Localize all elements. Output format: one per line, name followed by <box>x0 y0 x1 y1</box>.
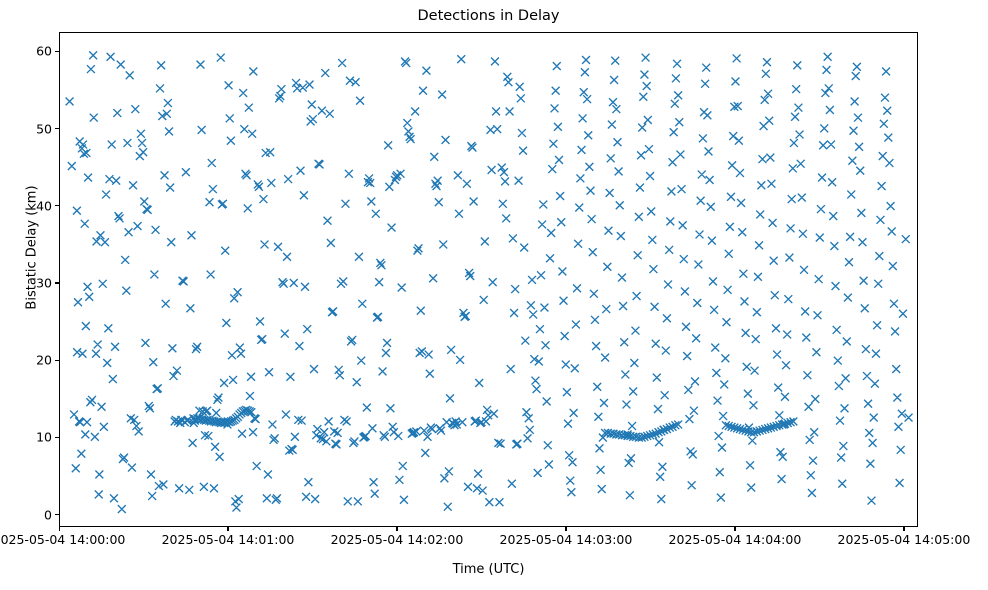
x-tick-mark <box>565 527 566 531</box>
matplotlib-figure: Detections in Delay 0102030405060 2025-0… <box>0 0 988 590</box>
y-tick-mark <box>55 282 59 283</box>
y-tick-mark <box>55 51 59 52</box>
y-tick-mark <box>55 514 59 515</box>
x-tick-mark <box>59 527 60 531</box>
x-tick-mark <box>903 527 904 531</box>
x-tick-label: 2025-05-04 14:05:00 <box>838 532 971 547</box>
x-tick-label: 2025-05-04 14:03:00 <box>500 532 633 547</box>
y-tick-mark <box>55 360 59 361</box>
chart-title: Detections in Delay <box>59 8 918 24</box>
x-tick-label: 2025-05-04 14:02:00 <box>331 532 464 547</box>
y-tick-label: 0 <box>44 507 52 522</box>
x-tick-label: 2025-05-04 14:04:00 <box>669 532 802 547</box>
scatter-points <box>60 33 917 526</box>
x-tick-mark <box>227 527 228 531</box>
y-tick-mark <box>55 437 59 438</box>
y-tick-label: 10 <box>36 430 52 445</box>
x-tick-label: 2025-05-04 14:00:00 <box>0 532 125 547</box>
x-tick-mark <box>396 527 397 531</box>
x-tick-label: 2025-05-04 14:01:00 <box>162 532 295 547</box>
plot-area <box>59 32 918 527</box>
y-tick-mark <box>55 128 59 129</box>
x-axis-label: Time (UTC) <box>59 562 918 577</box>
y-tick-label: 60 <box>36 44 52 59</box>
scatter-marker-path <box>66 51 913 513</box>
y-axis-label: Bistatic Delay (km) <box>25 98 40 398</box>
y-tick-mark <box>55 205 59 206</box>
x-tick-mark <box>734 527 735 531</box>
